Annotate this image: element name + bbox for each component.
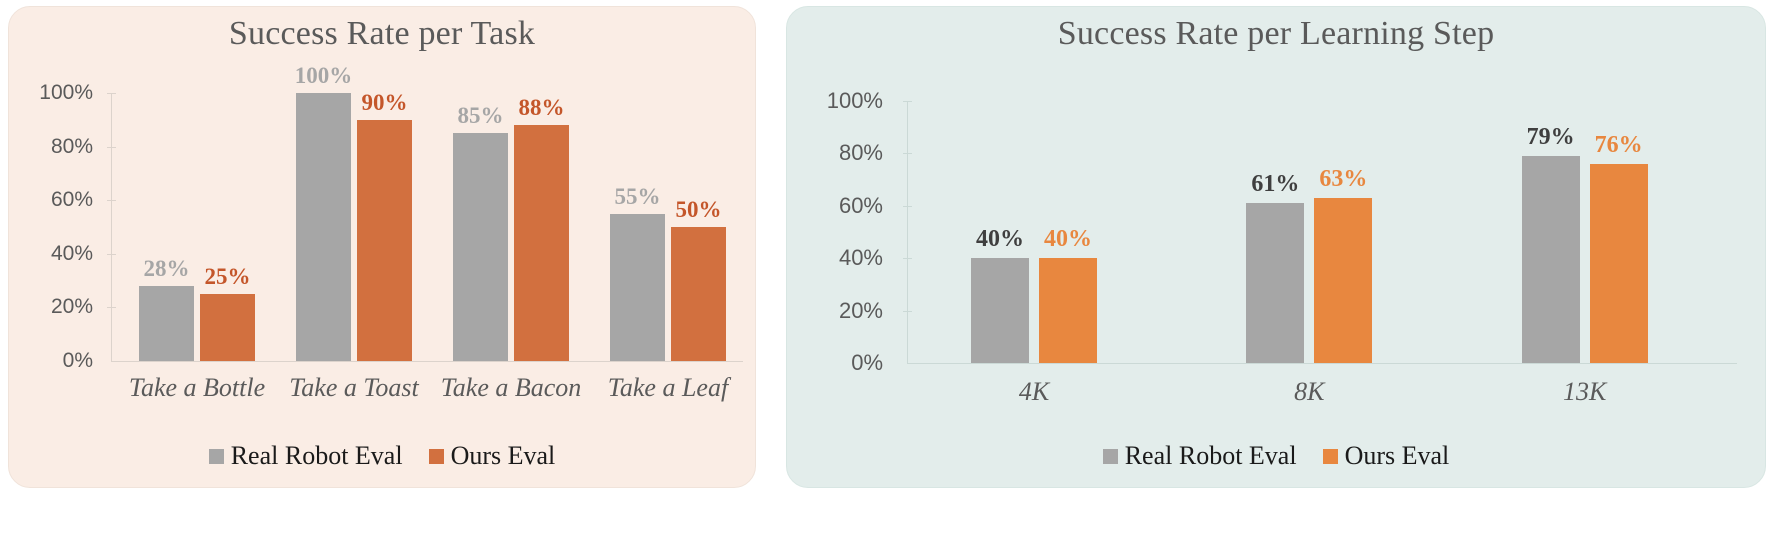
bar-value-label: 50% <box>659 197 738 223</box>
plot-area-left: 0%20%40%60%80%100% 28%25%Take a Bottle10… <box>31 79 743 377</box>
legend-swatch-icon-orange-right <box>1323 449 1338 464</box>
bar-ours-eval <box>357 120 412 361</box>
legend-label-ours-eval-left: Ours Eval <box>451 441 556 471</box>
legend-label-real-robot-eval-left: Real Robot Eval <box>231 441 403 471</box>
bar-value-label: 63% <box>1302 166 1384 193</box>
bar-ours-eval <box>200 294 255 361</box>
bar-value-label: 76% <box>1578 132 1660 159</box>
y-axis-left: 0%20%40%60%80%100% <box>31 79 103 377</box>
legend-swatch-icon-gray-left <box>209 449 224 464</box>
bar-real-robot-eval <box>139 286 194 361</box>
y-axis-tick-label: 40% <box>51 242 93 266</box>
chart-panel-success-rate-per-task: Success Rate per Task 0%20%40%60%80%100%… <box>8 6 756 488</box>
y-axis-tick-label: 40% <box>839 245 883 271</box>
legend-item-ours-eval-left: Ours Eval <box>429 441 556 471</box>
bar-real-robot-eval <box>1246 203 1304 363</box>
bar-real-robot-eval <box>610 214 665 361</box>
y-axis-tick-label: 60% <box>51 188 93 212</box>
y-axis-tick-label: 0% <box>63 349 93 373</box>
y-axis-line <box>907 101 908 363</box>
x-axis-category-label: 13K <box>1482 377 1688 407</box>
legend-right: Real Robot Eval Ours Eval <box>787 441 1765 471</box>
bar-real-robot-eval <box>1522 156 1580 363</box>
bar-ours-eval <box>1039 258 1097 363</box>
x-axis-category-label: 4K <box>931 377 1137 407</box>
y-axis-tick-label: 100% <box>827 88 883 114</box>
bar-real-robot-eval <box>296 93 351 361</box>
chart-title-right: Success Rate per Learning Step <box>787 15 1765 53</box>
bar-ours-eval <box>514 125 569 361</box>
y-axis-tick-label: 60% <box>839 193 883 219</box>
plot-area-right: 0%20%40%60%80%100% 40%40%4K61%63%8K79%76… <box>815 85 1745 377</box>
bar-real-robot-eval <box>971 258 1029 363</box>
legend-item-ours-eval-right: Ours Eval <box>1323 441 1450 471</box>
legend-swatch-icon-gray-right <box>1103 449 1118 464</box>
legend-swatch-icon-orange-left <box>429 449 444 464</box>
y-axis-right: 0%20%40%60%80%100% <box>815 85 895 377</box>
bar-value-label: 90% <box>345 90 424 116</box>
y-axis-tick-label: 100% <box>39 81 93 105</box>
chart-panel-success-rate-per-learning-step: Success Rate per Learning Step 0%20%40%6… <box>786 6 1766 488</box>
x-axis-category-label: 8K <box>1206 377 1412 407</box>
bar-ours-eval <box>1590 164 1648 363</box>
legend-item-real-robot-eval-left: Real Robot Eval <box>209 441 403 471</box>
y-axis-tick-label: 20% <box>839 298 883 324</box>
y-axis-tick-label: 80% <box>51 135 93 159</box>
legend-label-real-robot-eval-right: Real Robot Eval <box>1125 441 1297 471</box>
y-axis-tick-label: 0% <box>851 350 883 376</box>
bar-value-label: 40% <box>1027 226 1109 253</box>
x-axis-baseline <box>907 363 1737 364</box>
x-axis-baseline <box>111 361 743 362</box>
legend-item-real-robot-eval-right: Real Robot Eval <box>1103 441 1297 471</box>
bar-ours-eval <box>1314 198 1372 363</box>
chart-title-left: Success Rate per Task <box>9 15 755 53</box>
bar-value-label: 88% <box>502 95 581 121</box>
bar-real-robot-eval <box>453 133 508 361</box>
bar-ours-eval <box>671 227 726 361</box>
figure-root: Success Rate per Task 0%20%40%60%80%100%… <box>0 0 1774 550</box>
bar-value-label: 25% <box>188 264 267 290</box>
legend-label-ours-eval-right: Ours Eval <box>1345 441 1450 471</box>
bar-value-label: 100% <box>284 63 363 89</box>
y-axis-line <box>111 93 112 361</box>
y-axis-tick-label: 20% <box>51 295 93 319</box>
y-axis-tick-label: 80% <box>839 140 883 166</box>
x-axis-category-label: Take a Leaf <box>570 373 766 403</box>
legend-left: Real Robot Eval Ours Eval <box>9 441 755 471</box>
